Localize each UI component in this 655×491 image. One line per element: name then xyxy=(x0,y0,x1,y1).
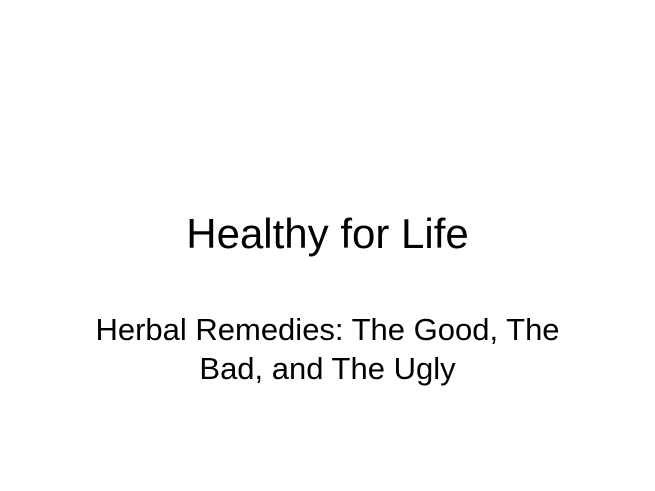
slide-subtitle: Herbal Remedies: The Good, The Bad, and … xyxy=(77,310,578,388)
slide-title: Healthy for Life xyxy=(0,209,655,259)
presentation-slide: Healthy for Life Herbal Remedies: The Go… xyxy=(0,0,655,491)
